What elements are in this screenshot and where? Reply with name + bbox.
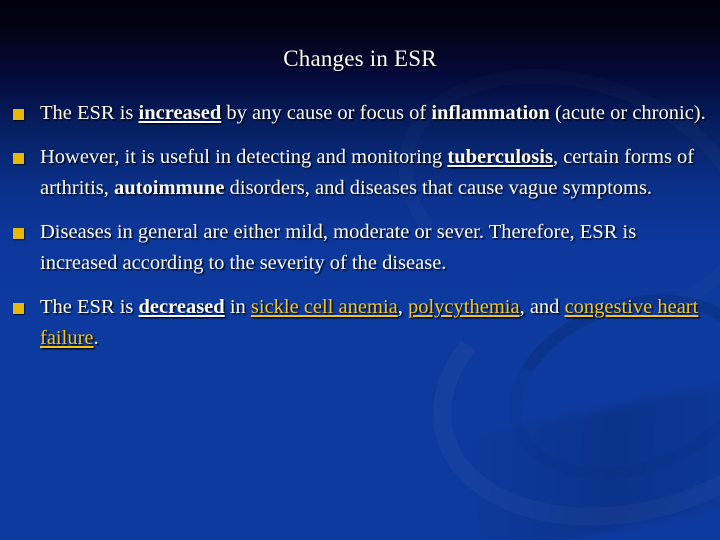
text-run: inflammation bbox=[431, 102, 549, 124]
text-run: autoimmune bbox=[114, 177, 224, 199]
text-run: However, it is useful in detecting and m… bbox=[40, 146, 447, 168]
hyperlink-polycythemia[interactable]: polycythemia bbox=[408, 296, 520, 318]
text-run: . bbox=[94, 327, 99, 349]
bullet-esr-decreased: The ESR is decreased in sickle cell anem… bbox=[10, 292, 710, 354]
bullet-text: The ESR is increased by any cause or foc… bbox=[40, 98, 710, 129]
text-run: disorders, and diseases that cause vague… bbox=[225, 177, 653, 199]
slide-bullet-list: The ESR is increased by any cause or foc… bbox=[10, 98, 710, 367]
bullet-disease-severity: Diseases in general are either mild, mod… bbox=[10, 217, 710, 279]
text-run: in bbox=[225, 296, 251, 318]
square-bullet-icon bbox=[13, 303, 24, 314]
text-run: increased bbox=[139, 102, 222, 124]
hyperlink-sickle-cell-anemia[interactable]: sickle cell anemia bbox=[251, 296, 398, 318]
bullet-text: However, it is useful in detecting and m… bbox=[40, 142, 710, 204]
bullet-text: Diseases in general are either mild, mod… bbox=[40, 217, 710, 279]
text-run: by any cause or focus of bbox=[221, 102, 431, 124]
text-run: (acute or chronic). bbox=[550, 102, 706, 124]
slide-title: Changes in ESR bbox=[0, 45, 720, 73]
presentation-slide: Changes in ESR The ESR is increased by a… bbox=[0, 0, 720, 540]
square-bullet-icon bbox=[13, 153, 24, 164]
square-bullet-icon bbox=[13, 109, 24, 120]
text-run: tuberculosis bbox=[447, 146, 553, 168]
square-bullet-icon bbox=[13, 228, 24, 239]
text-run: decreased bbox=[139, 296, 225, 318]
text-run: Diseases in general are either mild, mod… bbox=[40, 221, 636, 274]
background-swoosh-streak-decoration bbox=[461, 373, 720, 540]
text-run: The ESR is bbox=[40, 102, 139, 124]
text-run: The ESR is bbox=[40, 296, 139, 318]
text-run: , and bbox=[520, 296, 565, 318]
bullet-esr-useful: However, it is useful in detecting and m… bbox=[10, 142, 710, 204]
bullet-esr-increased: The ESR is increased by any cause or foc… bbox=[10, 98, 710, 129]
bullet-text: The ESR is decreased in sickle cell anem… bbox=[40, 292, 710, 354]
text-run: , bbox=[398, 296, 408, 318]
